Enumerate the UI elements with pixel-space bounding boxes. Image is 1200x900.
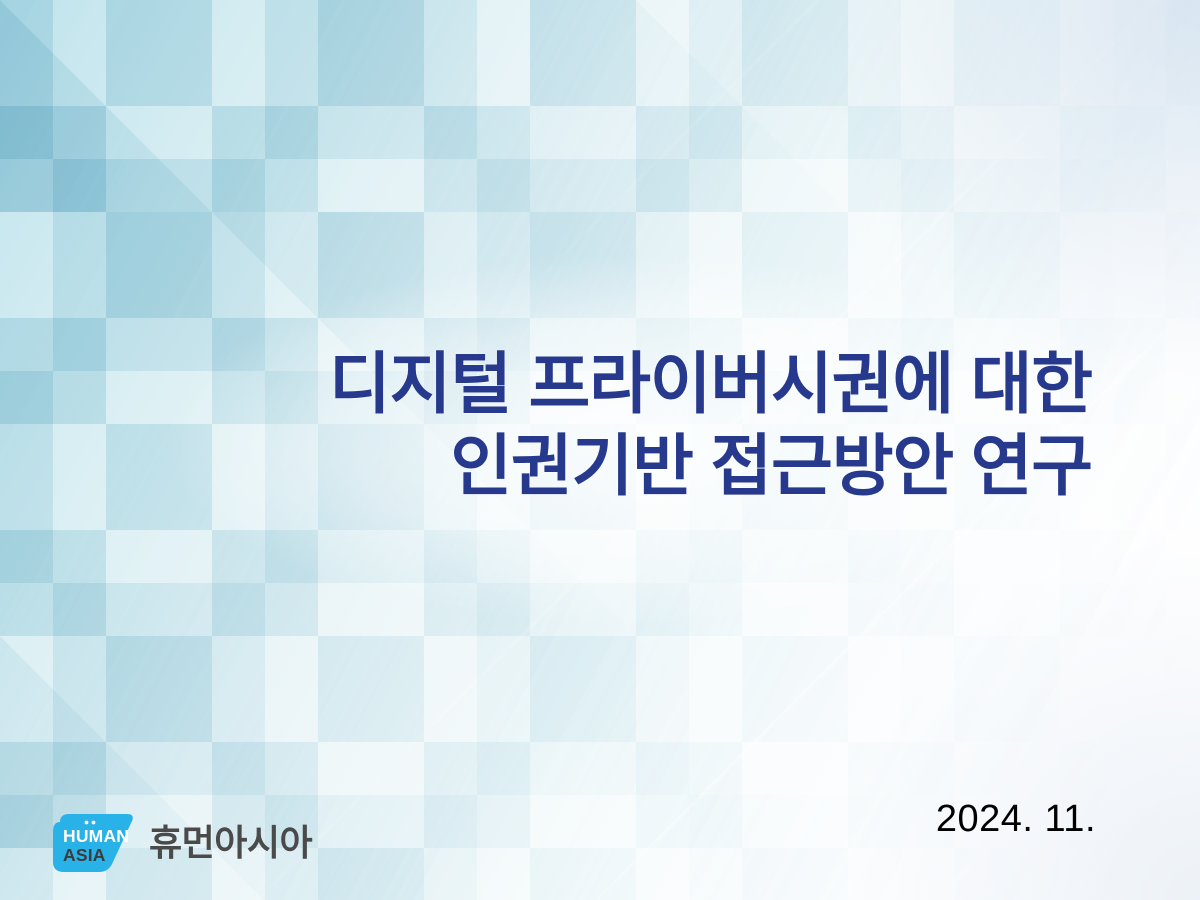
- logo-korean-name: 휴먼아시아: [149, 825, 312, 861]
- logo-word-human: HUMAN: [63, 826, 129, 846]
- human-asia-logo-icon: HUMAN ASIA: [48, 812, 136, 874]
- organization-logo: HUMAN ASIA 휴먼아시아: [48, 812, 312, 874]
- title-slide: 디지털 프라이버시권에 대한 인권기반 접근방안 연구 2024. 11. HU…: [0, 0, 1200, 900]
- title-line-1: 디지털 프라이버시권에 대한: [0, 344, 1092, 426]
- logo-word-asia: ASIA: [63, 845, 106, 865]
- logo-dot-left: [85, 821, 89, 825]
- publication-date: 2024. 11.: [936, 798, 1096, 841]
- page-title: 디지털 프라이버시권에 대한 인권기반 접근방안 연구: [0, 344, 1092, 508]
- title-line-2: 인권기반 접근방안 연구: [0, 426, 1092, 508]
- logo-dot-right: [92, 821, 96, 825]
